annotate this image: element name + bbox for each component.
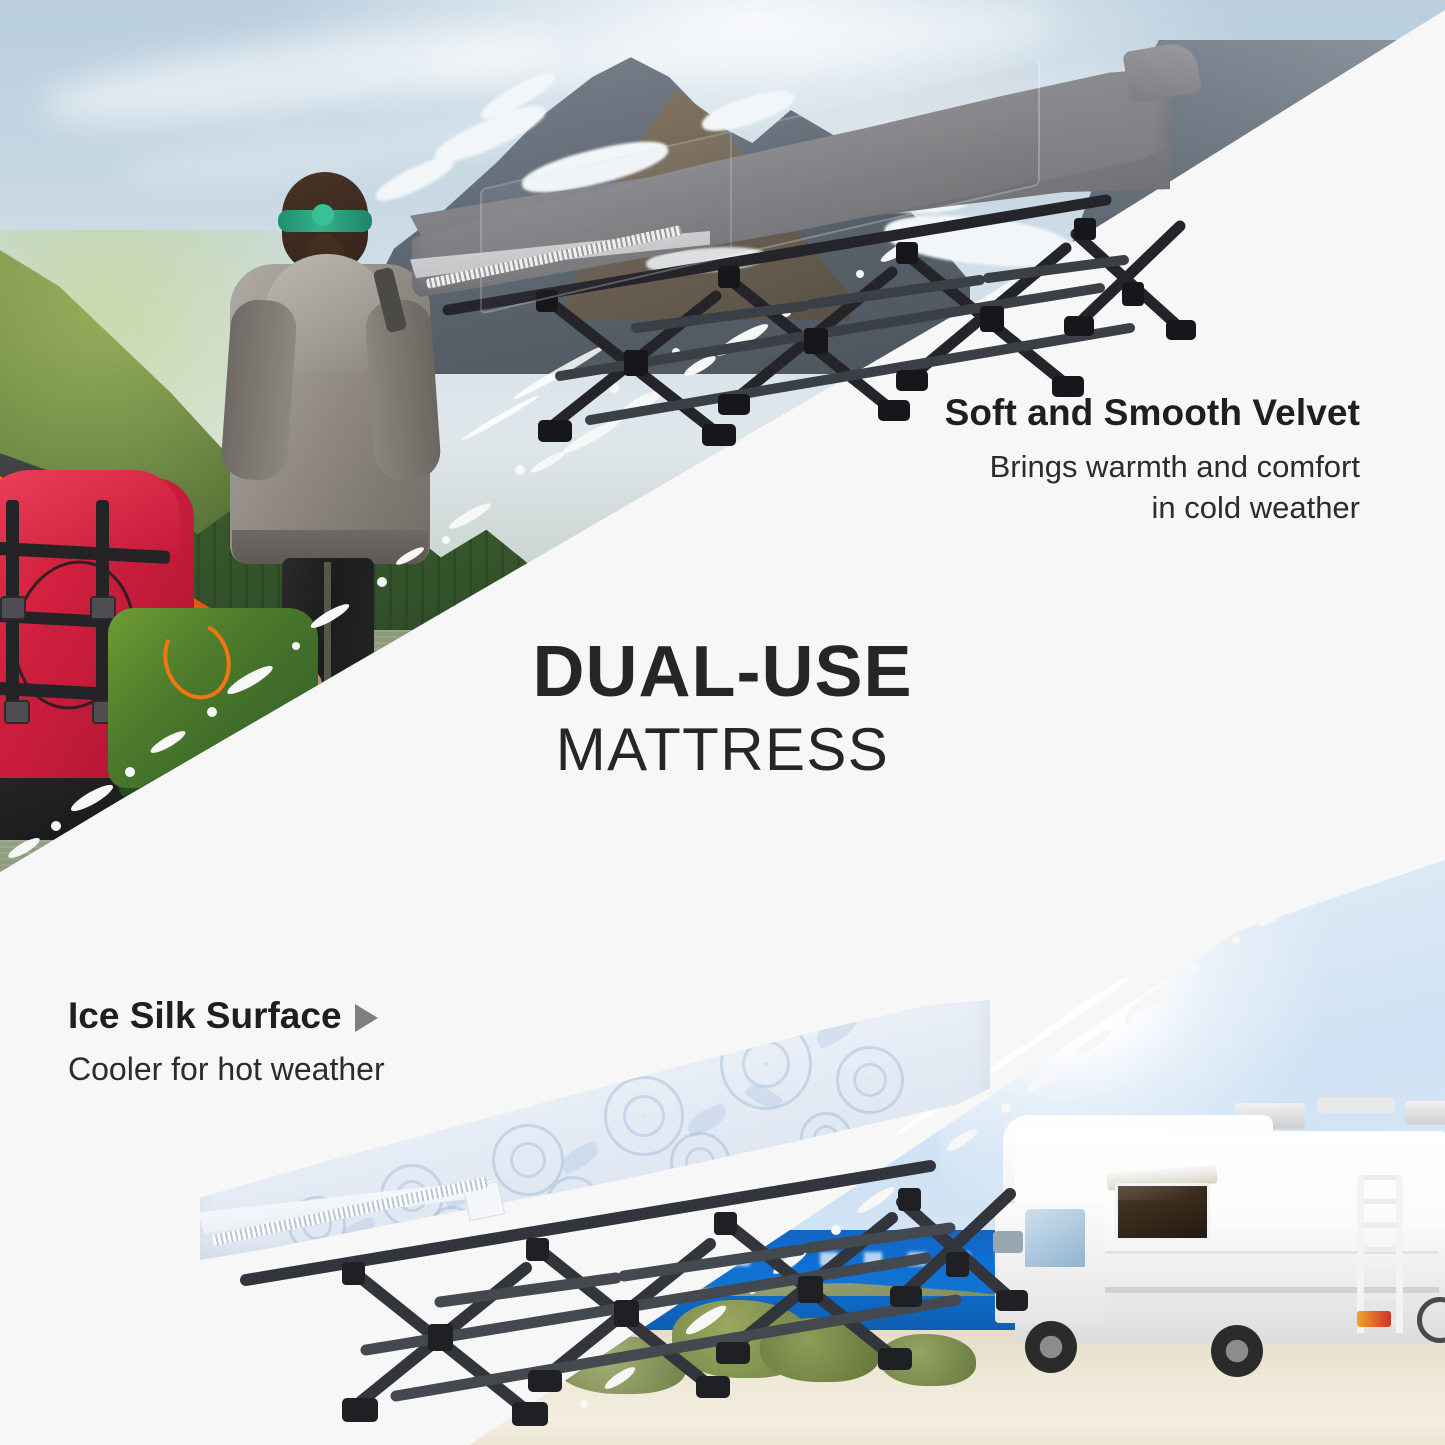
buckle xyxy=(0,596,26,620)
banner-title: DUAL-USE MATTRESS xyxy=(0,636,1445,780)
title-line-mattress: MATTRESS xyxy=(0,720,1445,780)
rose-motif xyxy=(836,1046,904,1114)
velvet-heading: Soft and Smooth Velvet xyxy=(840,392,1360,433)
water-ripple xyxy=(260,820,720,838)
velvet-quilt-seam xyxy=(730,98,732,248)
velvet-subtext-line1: Brings warmth and comfort xyxy=(840,447,1360,488)
lake-shoreline xyxy=(120,845,820,960)
ice-silk-heading-row: Ice Silk Surface xyxy=(68,996,628,1037)
play-triangle-icon xyxy=(355,1004,378,1032)
velvet-subtext: Brings warmth and comfort in cold weathe… xyxy=(840,447,1360,529)
velvet-subtext-line2: in cold weather xyxy=(840,488,1360,529)
rv-roof-vent xyxy=(1405,1101,1445,1125)
ice-silk-heading: Ice Silk Surface xyxy=(68,996,342,1037)
jacket-sleeve-left xyxy=(220,298,298,482)
rv-tail-light xyxy=(1357,1311,1391,1327)
rv-rear-ladder xyxy=(1357,1175,1403,1333)
feature-velvet-text: Soft and Smooth Velvet Brings warmth and… xyxy=(840,392,1360,529)
rv-windshield xyxy=(1025,1209,1085,1267)
buckle xyxy=(90,596,116,620)
feature-ice-silk-text: Ice Silk Surface Cooler for hot weather xyxy=(68,996,628,1090)
title-line-dual-use: DUAL-USE xyxy=(0,636,1445,708)
headband-knot xyxy=(312,204,334,226)
rv-front-wheel xyxy=(1025,1321,1077,1373)
rv-rear-wheel xyxy=(1211,1325,1263,1377)
ice-silk-subtext: Cooler for hot weather xyxy=(68,1049,628,1091)
leaf-motif xyxy=(558,1140,602,1175)
product-banner: Soft and Smooth Velvet Brings warmth and… xyxy=(0,0,1445,1445)
